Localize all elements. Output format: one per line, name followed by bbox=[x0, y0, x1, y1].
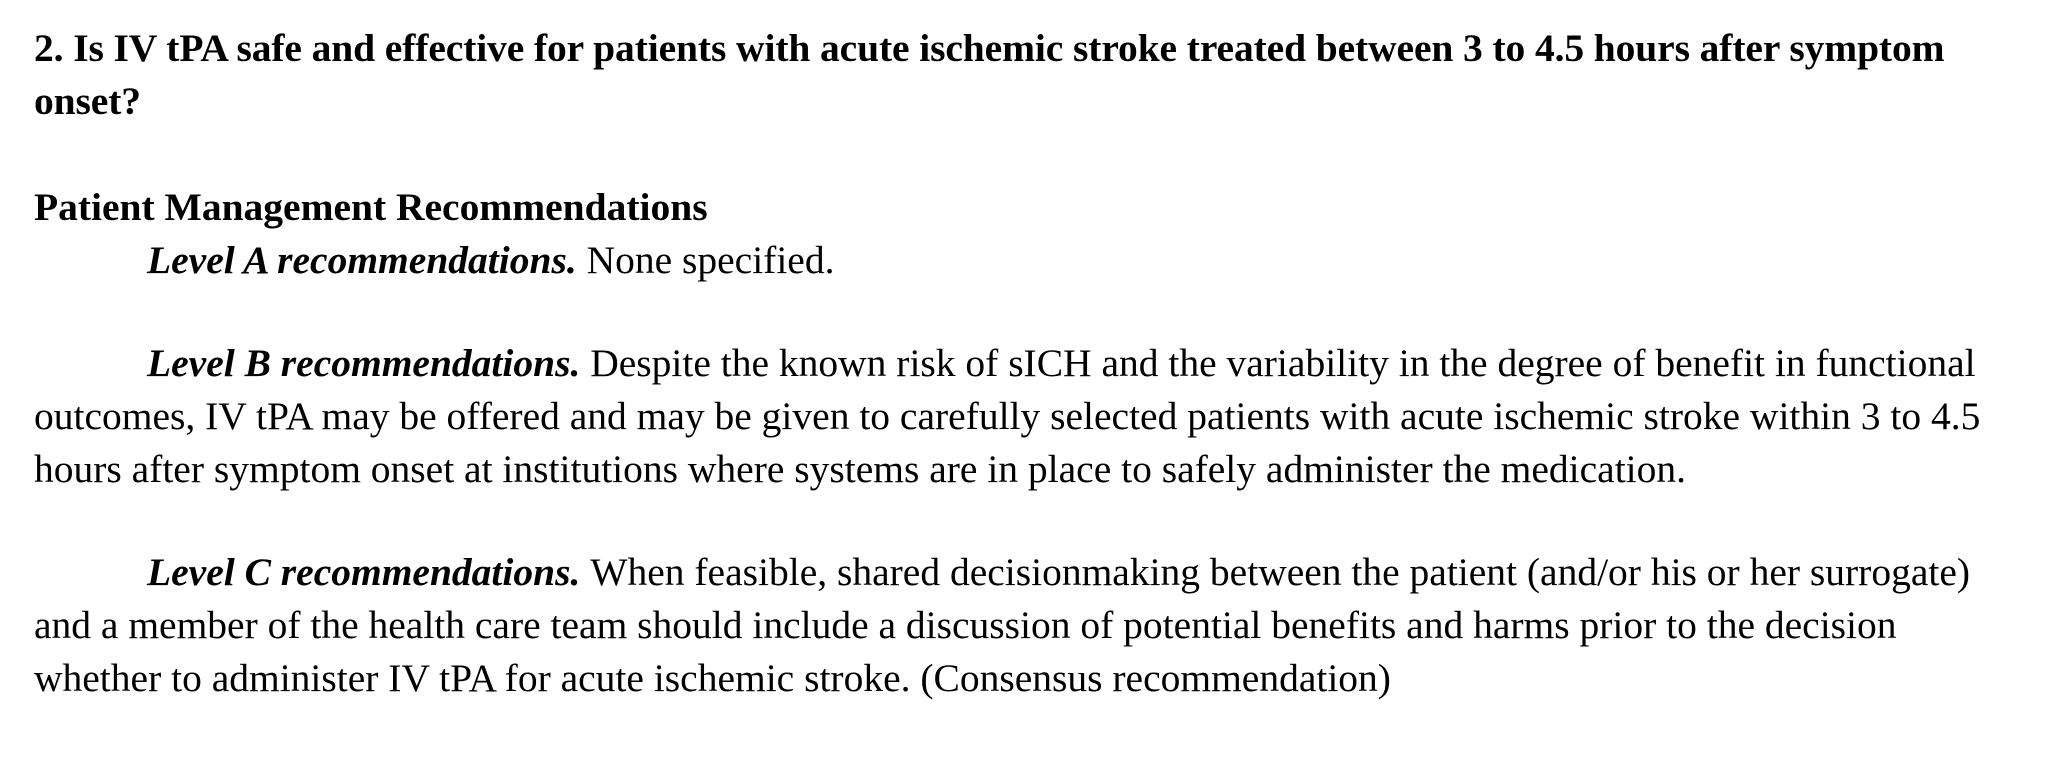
recommendation-level-c: Level C recommendations. When feasible, … bbox=[34, 546, 2009, 705]
recommendation-level-b: Level B recommendations. Despite the kno… bbox=[34, 337, 2009, 496]
level-a-text: None specified. bbox=[587, 238, 835, 282]
recommendation-level-a: Level A recommendations. None specified. bbox=[34, 234, 2009, 287]
document-page: 2. Is IV tPA safe and effective for pati… bbox=[0, 0, 2049, 762]
heading-spacer bbox=[34, 128, 2009, 181]
document-body: 2. Is IV tPA safe and effective for pati… bbox=[34, 22, 2009, 705]
level-a-label: Level A recommendations. bbox=[147, 238, 577, 282]
level-b-spacer bbox=[34, 496, 2009, 546]
question-heading: 2. Is IV tPA safe and effective for pati… bbox=[34, 22, 2009, 128]
level-b-label: Level B recommendations. bbox=[147, 341, 580, 385]
level-c-label: Level C recommendations. bbox=[147, 550, 580, 594]
section-title-patient-management-recommendations: Patient Management Recommendations bbox=[34, 181, 2009, 234]
level-a-spacer bbox=[34, 287, 2009, 337]
